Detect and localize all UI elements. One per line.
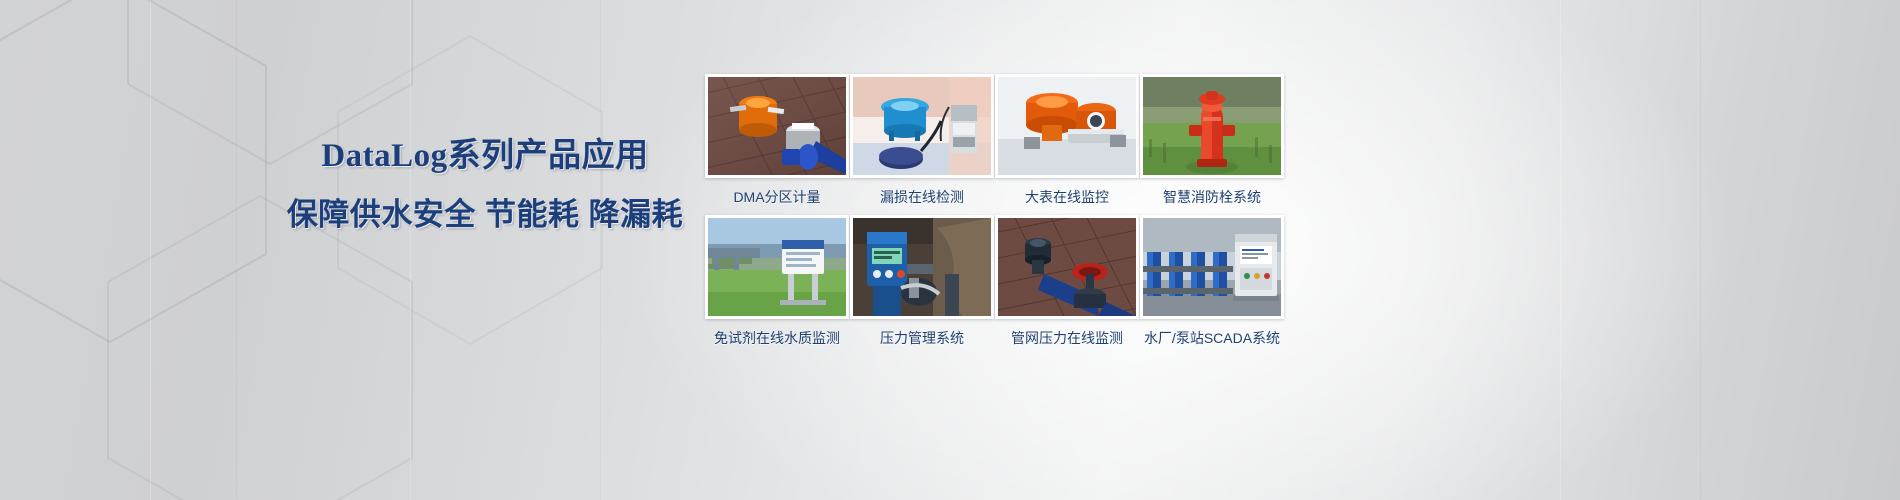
grid-item-caption: 压力管理系统 xyxy=(880,328,964,348)
smart-fire-hydrant-photo[interactable] xyxy=(1140,74,1284,178)
grid-item[interactable]: 漏损在线检测 xyxy=(851,74,993,207)
pressure-management-system-photo[interactable] xyxy=(850,215,994,319)
grid-item[interactable]: DMA分区计量 xyxy=(706,74,848,207)
grid-item-caption: 漏损在线检测 xyxy=(880,187,964,207)
reagent-free-water-quality-photo[interactable] xyxy=(705,215,849,319)
grid-item[interactable]: 压力管理系统 xyxy=(851,215,993,348)
grid-item-caption: 大表在线监控 xyxy=(1025,187,1109,207)
waterworks-scada-system-photo[interactable] xyxy=(1140,215,1284,319)
leakage-online-detection-photo[interactable] xyxy=(850,74,994,178)
grid-item-caption: DMA分区计量 xyxy=(733,187,820,207)
pipeline-pressure-monitoring-photo[interactable] xyxy=(995,215,1139,319)
grid-item[interactable]: 智慧消防栓系统 xyxy=(1141,74,1283,207)
product-application-banner: DataLog系列产品应用 保障供水安全 节能耗 降漏耗 xyxy=(0,0,1900,500)
grid-item[interactable]: 管网压力在线监测 xyxy=(996,215,1138,348)
headline-block: DataLog系列产品应用 保障供水安全 节能耗 降漏耗 xyxy=(270,140,700,230)
dma-metering-chamber-photo[interactable] xyxy=(705,74,849,178)
grid-item[interactable]: 免试剂在线水质监测 xyxy=(706,215,848,348)
headline-line-2: 保障供水安全 节能耗 降漏耗 xyxy=(270,199,700,230)
grid-item-caption: 水厂/泵站SCADA系统 xyxy=(1144,328,1280,348)
grid-item-caption: 智慧消防栓系统 xyxy=(1163,187,1261,207)
large-meter-monitoring-photo[interactable] xyxy=(995,74,1139,178)
hexagon-icon xyxy=(0,0,280,350)
grid-item-caption: 免试剂在线水质监测 xyxy=(714,328,840,348)
grid-item-caption: 管网压力在线监测 xyxy=(1011,328,1123,348)
headline-line-1: DataLog系列产品应用 xyxy=(270,140,700,173)
grid-item[interactable]: 水厂/泵站SCADA系统 xyxy=(1141,215,1283,348)
product-thumbnail-grid: DMA分区计量 xyxy=(706,74,1283,348)
hexagon-icon xyxy=(100,190,420,500)
grid-item[interactable]: 大表在线监控 xyxy=(996,74,1138,207)
